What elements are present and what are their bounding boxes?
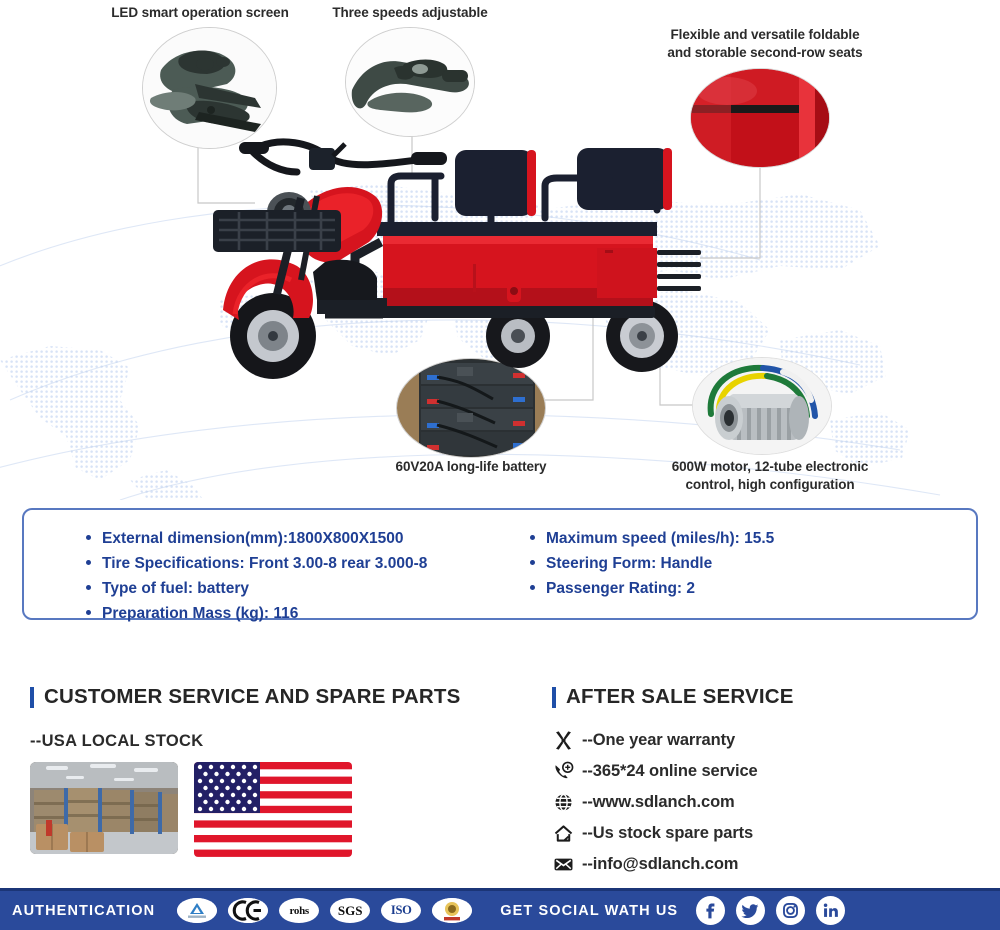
instrument-console [309,148,335,170]
cnas-triangle-badge[interactable] [177,898,217,923]
service-item-label: --One year warranty [582,731,735,750]
quality-seal-badge[interactable] [432,898,472,923]
warehouse-interior-image [30,762,178,854]
callout-bubble-led-screen [142,27,277,149]
callout-label-motor: 600W motor, 12-tube electronic control, … [630,458,910,494]
product-image-electric-tricycle [205,138,715,398]
callout-label-led-screen: LED smart operation screen [90,4,310,22]
certification-badges: rohs SGS ISO [177,898,472,923]
iso-badge-label: ISO [391,903,412,918]
product-infographic-page: LED smart operation screen [0,0,1000,930]
service-item-online-support: --365*24 online service [552,756,982,787]
spec-item: Passenger Rating: 2 [530,576,976,601]
customer-service-column: CUSTOMER SERVICE AND SPARE PARTS --USA L… [30,685,530,857]
ce-logo-icon [228,898,268,923]
callout-bubble-three-speed [345,27,475,137]
rear-rack-bars [657,250,701,291]
callout-label-motor-line1: 600W motor, 12-tube electronic [630,458,910,476]
ce-badge[interactable] [228,898,268,923]
after-sale-service-column: AFTER SALE SERVICE --One year warranty [552,685,982,880]
after-sale-service-heading: AFTER SALE SERVICE [552,685,982,709]
callout-label-motor-line2: control, high configuration [630,476,910,494]
linkedin-icon[interactable] [816,896,845,925]
envelope-mail-icon [552,854,574,876]
service-section: CUSTOMER SERVICE AND SPARE PARTS --USA L… [0,660,1000,885]
warehouse-photo [30,762,178,854]
service-item-website: --www.sdlanch.com [552,787,982,818]
service-item-warranty: --One year warranty [552,725,982,756]
sgs-badge[interactable]: SGS [330,898,370,923]
service-item-email: --info@sdlanch.com [552,849,982,880]
led-display-cluster-photo [143,28,277,149]
callout-label-foldable-seats-line1: Flexible and versatile foldable [640,26,890,44]
phone-support-icon [552,761,574,783]
service-item-spare-parts: --Us stock spare parts [552,818,982,849]
globe-web-icon [552,792,574,814]
handlebar-throttle-photo [346,28,475,137]
rohs-badge-label: rohs [290,905,309,917]
iso-badge[interactable]: ISO [381,898,421,923]
seat-back-front [455,150,536,216]
social-label: GET SOCIAL WATH US [500,903,678,919]
specs-column-right: Maximum speed (miles/h): 15.5 Steering F… [500,526,976,618]
left-grip [239,142,269,154]
spec-item: Preparation Mass (kg): 116 [86,601,500,626]
usa-flag [194,762,352,857]
twitter-icon[interactable] [736,896,765,925]
callout-label-foldable-seats-line2: and storable second-row seats [640,44,890,62]
usa-flag-image [194,762,352,857]
callout-label-foldable-seats: Flexible and versatile foldable and stor… [640,26,890,62]
service-item-label: --www.sdlanch.com [582,793,735,812]
callout-label-battery: 60V20A long-life battery [371,458,571,476]
quality-seal-icon [432,898,472,923]
social-icons [696,896,845,925]
wrench-tools-icon [552,730,574,752]
specs-column-left: External dimension(mm):1800X800X1500 Tir… [24,526,500,618]
spec-item: Tire Specifications: Front 3.00-8 rear 3… [86,551,500,576]
spec-item: External dimension(mm):1800X800X1500 [86,526,500,551]
right-grip [411,152,447,165]
instagram-icon[interactable] [776,896,805,925]
home-house-icon [552,823,574,845]
cnas-logo-icon [177,898,217,923]
spec-item: Maximum speed (miles/h): 15.5 [530,526,976,551]
authentication-label: AUTHENTICATION [12,903,155,919]
service-item-label: --info@sdlanch.com [582,855,738,874]
after-sale-items-list: --One year warranty --365*24 online serv… [552,725,982,880]
spec-item: Steering Form: Handle [530,551,976,576]
callout-label-three-speed: Three speeds adjustable [310,4,510,22]
front-basket [213,210,341,252]
rohs-badge[interactable]: rohs [279,898,319,923]
service-item-label: --365*24 online service [582,762,758,781]
hero-product-section: LED smart operation screen [0,0,1000,500]
spec-item: Type of fuel: battery [86,576,500,601]
bottom-authentication-bar: AUTHENTICATION rohs [0,888,1000,930]
customer-service-heading: CUSTOMER SERVICE AND SPARE PARTS [30,685,530,709]
service-item-label: --Us stock spare parts [582,824,753,843]
specifications-box: External dimension(mm):1800X800X1500 Tir… [22,508,978,620]
usa-local-stock-label: --USA LOCAL STOCK [30,732,530,751]
facebook-icon[interactable] [696,896,725,925]
bench-seat-cushion [377,222,657,236]
sgs-badge-label: SGS [338,903,363,919]
